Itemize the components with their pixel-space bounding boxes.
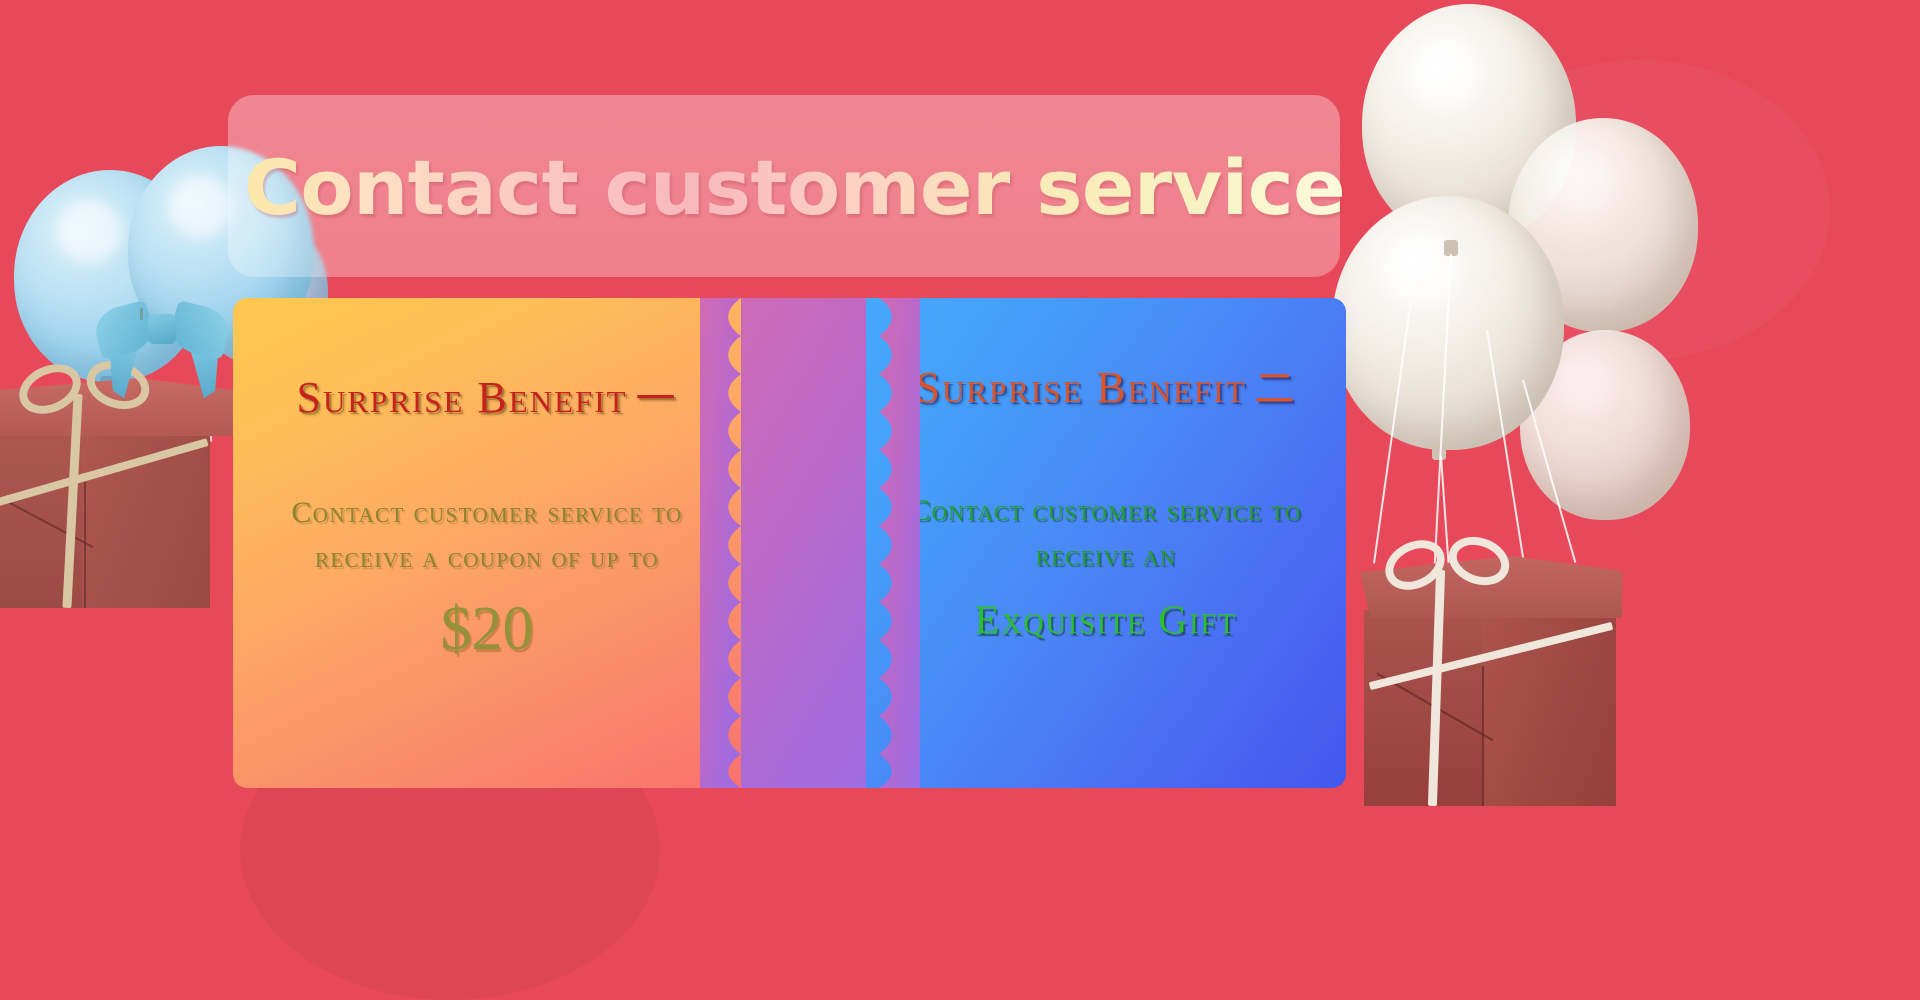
promo-banner-stage: Contact customer service to receive bene… [0,0,1920,1000]
ribbon-bow-icon [96,300,228,360]
coupon-left-tiny-mark [140,308,143,320]
gift-box-seam [84,482,86,608]
page-title: Contact customer service to receive bene… [244,140,1361,235]
coupon-left-heading: Surprise Benefit一 [233,366,741,424]
bow-loop [167,300,233,360]
gift-box-seam [1482,666,1484,806]
coupon-card-left[interactable]: Surprise Benefit一 Contact customer servi… [233,298,741,788]
bow-knot [148,314,176,344]
coupon-right-amount: Exquisite Gift [866,596,1346,643]
coupon-right-body-text: Contact customer service to receive an [866,488,1346,578]
coupon-right-heading: Surprise Benefit二 [866,356,1346,414]
gift-box-front [1364,610,1482,806]
coupon-left-heading-number: 一 [628,376,678,421]
coupon-left-heading-text: Surprise Benefit [296,373,627,422]
gift-box-icon [0,378,238,608]
coupon-left-amount: $20 [233,594,741,665]
coupon-left-body-text: Contact customer service to receive a co… [233,490,741,580]
coupon-right-heading-text: Surprise Benefit [915,363,1246,412]
coupon-card-right[interactable]: Surprise Benefit二 Contact customer servi… [866,298,1346,788]
gift-box-icon [1360,556,1622,806]
coupon-right-heading-number: 二 [1247,366,1297,411]
